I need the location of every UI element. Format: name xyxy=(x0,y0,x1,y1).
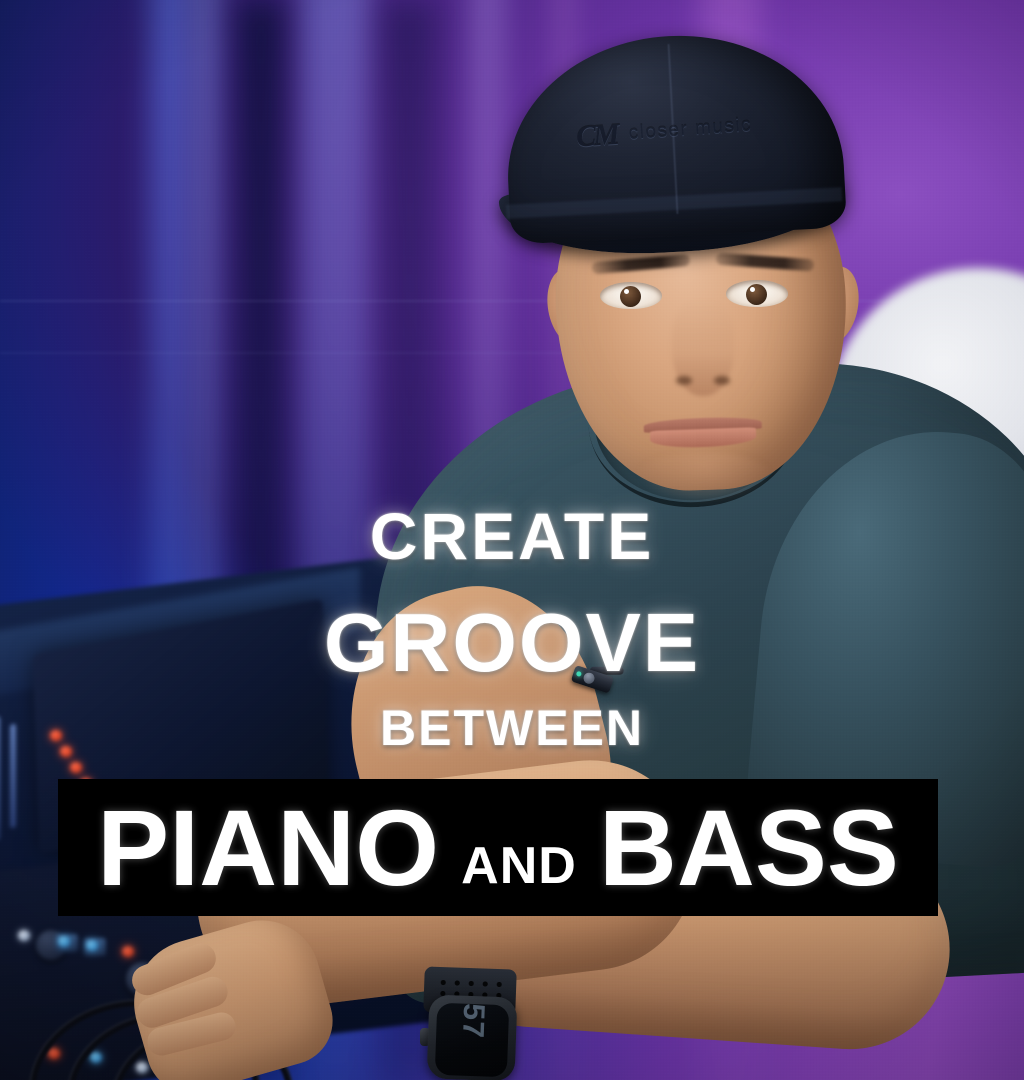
headline-line-groove: GROOVE xyxy=(0,601,1024,684)
headline-line-create: CREATE xyxy=(0,503,1024,569)
headline-banner: PIANO AND BASS xyxy=(58,779,938,916)
banner-word-and: AND xyxy=(461,840,577,892)
banner-word-piano: PIANO xyxy=(97,794,439,902)
headline-line-between: BETWEEN xyxy=(0,703,1024,753)
text-overlay: CREATE GROOVE BETWEEN PIANO AND BASS xyxy=(0,0,1024,1080)
banner-word-bass: BASS xyxy=(599,794,899,902)
thumbnail-image: CM closer music 57 CREATE xyxy=(0,0,1024,1080)
